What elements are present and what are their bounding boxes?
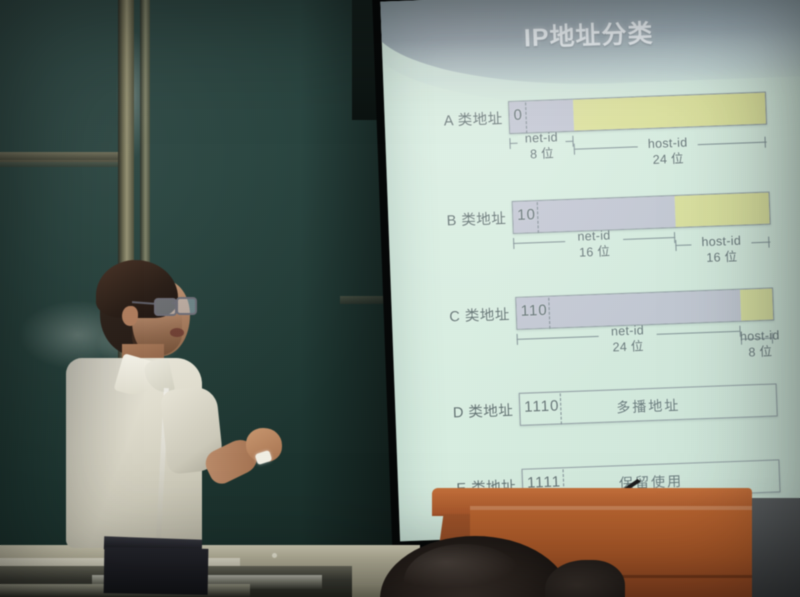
address-class-row-c: C 类地址 110 net-id 24 位 xyxy=(391,278,800,386)
dimension-group-c: net-id 24 位 host-id 8 位 xyxy=(517,327,780,377)
net-id-bits: 16 位 xyxy=(563,244,626,262)
net-id-bits: 8 位 xyxy=(514,145,571,163)
ear xyxy=(122,306,138,326)
dimension-tick xyxy=(517,334,519,345)
net-id-dimension-label: net-id 16 位 xyxy=(563,228,626,262)
lecturer xyxy=(60,262,290,597)
host-id-segment xyxy=(573,93,766,131)
host-id-name: host-id xyxy=(648,136,688,151)
host-id-name: host-id xyxy=(701,234,741,249)
dimension-group-a: net-id 8 位 host-id 24 位 xyxy=(509,131,772,181)
row-label: D 类地址 xyxy=(417,399,514,424)
dimension-tick xyxy=(574,144,576,155)
dimension-group-b: net-id 16 位 host-id 16 位 xyxy=(513,231,776,281)
row-label: B 类地址 xyxy=(410,207,507,232)
host-id-name: host-id xyxy=(740,328,780,343)
prefix-bits: 10 xyxy=(517,206,536,224)
host-id-dimension-label: host-id 8 位 xyxy=(731,328,790,361)
address-bar-a: 0 xyxy=(508,92,767,134)
net-id-name: net-id xyxy=(577,228,611,243)
prefix-bits: 110 xyxy=(520,302,548,320)
podium-edge-highlight xyxy=(470,506,752,510)
address-class-row-a: A 类地址 0 net-id 8 位 xyxy=(384,82,800,190)
dimension-tick xyxy=(675,240,677,251)
host-id-bits: 16 位 xyxy=(690,249,755,267)
blackboard-rail xyxy=(0,160,120,167)
host-id-dimension-label: host-id 24 位 xyxy=(635,135,700,169)
address-bar-d: 1110 多播地址 xyxy=(519,383,778,425)
row-label: A 类地址 xyxy=(406,107,503,132)
net-id-dimension-label: net-id 8 位 xyxy=(513,130,570,163)
row-label: C 类地址 xyxy=(413,303,510,328)
host-id-segment xyxy=(675,193,770,227)
dimension-tick xyxy=(768,237,770,248)
net-id-name: net-id xyxy=(611,323,645,338)
net-id-name: net-id xyxy=(525,130,559,145)
host-id-segment xyxy=(740,289,773,321)
dimension-tick xyxy=(509,138,511,149)
mouth xyxy=(170,328,184,337)
net-id-bits: 24 位 xyxy=(597,338,660,356)
host-id-bits: 24 位 xyxy=(636,151,701,169)
address-bar-b: 10 xyxy=(512,192,771,234)
glasses-lens-right xyxy=(176,297,197,315)
host-id-bits: 8 位 xyxy=(731,344,790,362)
dimension-tick xyxy=(513,238,515,249)
trousers xyxy=(104,547,209,595)
wall-right xyxy=(752,498,800,597)
prefix-bits: 0 xyxy=(513,107,523,124)
slide-body: A 类地址 0 net-id 8 位 xyxy=(380,0,800,541)
host-id-dimension-label: host-id 16 位 xyxy=(689,233,754,267)
glasses-lens-left xyxy=(154,298,177,316)
screenshot-root: IP地址分类 A 类地址 0 xyxy=(0,0,800,597)
net-id-dimension-label: net-id 24 位 xyxy=(596,323,659,357)
glasses-bridge xyxy=(172,302,178,304)
address-class-row-b: B 类地址 10 net-id 16 位 xyxy=(387,182,800,290)
projected-slide: IP地址分类 A 类地址 0 xyxy=(380,0,800,541)
projection-screen: IP地址分类 A 类地址 0 xyxy=(372,0,800,550)
dimension-tick xyxy=(764,137,766,148)
